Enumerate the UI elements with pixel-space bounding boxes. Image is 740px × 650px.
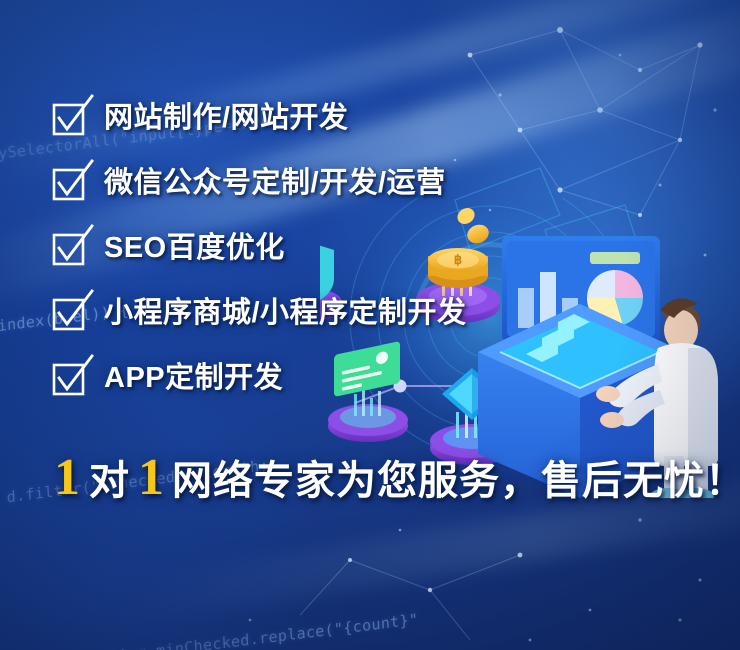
promo-banner: .querySelectorAll("input[type=checkbox]"…: [0, 0, 740, 650]
service-checklist: 网站制作/网站开发 微信公众号定制/开发/运营 SEO百度优化: [54, 96, 694, 421]
checkbox-checked-icon: [54, 103, 84, 133]
checkbox-checked-icon: [54, 298, 84, 328]
list-item[interactable]: APP定制开发: [54, 356, 694, 400]
headline-slogan: 1 对 1 网络专家为您服务，售后无忧！: [50, 452, 740, 504]
checkbox-checked-icon: [54, 233, 84, 263]
list-item[interactable]: 微信公众号定制/开发/运营: [54, 161, 694, 205]
list-item[interactable]: 网站制作/网站开发: [54, 96, 694, 140]
list-item[interactable]: 小程序商城/小程序定制开发: [54, 291, 694, 335]
list-item-label: SEO百度优化: [104, 231, 285, 265]
code-line: rn e >= b.arg || g.minChecked.replace("{…: [0, 570, 595, 650]
headline-number-second: 1: [134, 452, 168, 504]
list-item-label: 微信公众号定制/开发/运营: [104, 166, 446, 200]
list-item[interactable]: SEO百度优化: [54, 226, 694, 270]
headline-rest-text: 网络专家为您服务，售后无忧！: [168, 458, 740, 504]
list-item-label: APP定制开发: [104, 361, 283, 395]
headline-pair-word: 对: [84, 458, 134, 504]
list-item-label: 小程序商城/小程序定制开发: [104, 296, 467, 330]
checkbox-checked-icon: [54, 363, 84, 393]
checkbox-checked-icon: [54, 168, 84, 198]
list-item-label: 网站制作/网站开发: [104, 101, 349, 135]
headline-number-first: 1: [50, 452, 84, 504]
